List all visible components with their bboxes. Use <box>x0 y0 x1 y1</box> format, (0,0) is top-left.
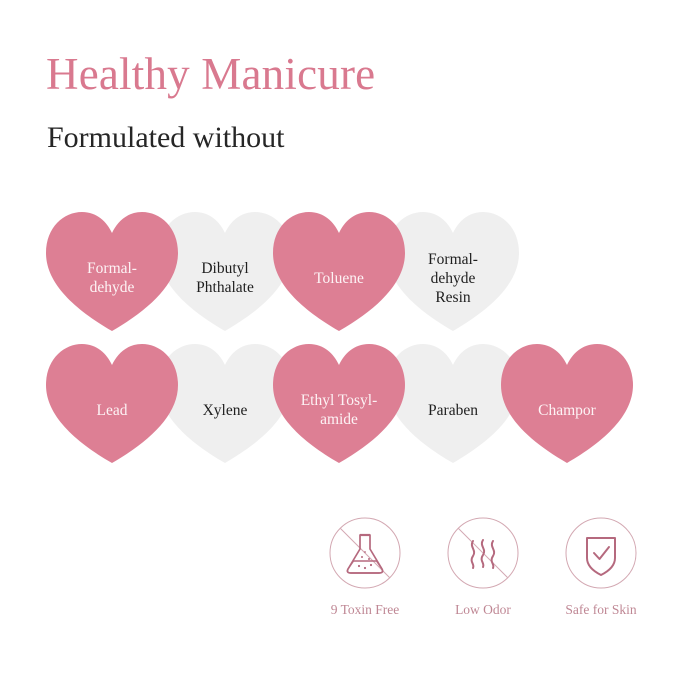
heart-shape-pink-icon <box>44 209 180 333</box>
feature-badge-label: Low Odor <box>423 602 543 618</box>
flask-no-toxin-icon <box>328 516 402 590</box>
ingredient-row-1: Dibutyl Phthalate Formal- dehyde Resin F… <box>0 205 679 340</box>
odor-waves-icon <box>446 516 520 590</box>
feature-badge: Low Odor <box>423 516 543 631</box>
feature-badge-strip: 9 Toxin Free Low Odor <box>305 516 665 631</box>
page-title: Healthy Manicure <box>46 48 375 100</box>
heart-shape-pink-icon <box>271 209 407 333</box>
infographic-canvas: Healthy Manicure Formulated without Dibu… <box>0 0 679 679</box>
feature-badge-label: 9 Toxin Free <box>305 602 425 618</box>
feature-badge: 9 Toxin Free <box>305 516 425 631</box>
ingredient-heart: Toluene <box>271 209 407 333</box>
feature-badge: Safe for Skin <box>541 516 661 631</box>
heart-shape-pink-icon <box>271 341 407 465</box>
feature-badge-label: Safe for Skin <box>541 602 661 618</box>
shield-check-icon <box>564 516 638 590</box>
ingredient-row-2: Xylene Paraben Lead Ethyl Tosyl- amide C <box>0 337 679 472</box>
ingredient-heart: Champor <box>499 341 635 465</box>
ingredient-heart: Ethyl Tosyl- amide <box>271 341 407 465</box>
heart-shape-pink-icon <box>44 341 180 465</box>
page-subtitle: Formulated without <box>47 120 284 156</box>
ingredient-heart: Lead <box>44 341 180 465</box>
ingredient-heart: Formal- dehyde <box>44 209 180 333</box>
heart-shape-pink-icon <box>499 341 635 465</box>
